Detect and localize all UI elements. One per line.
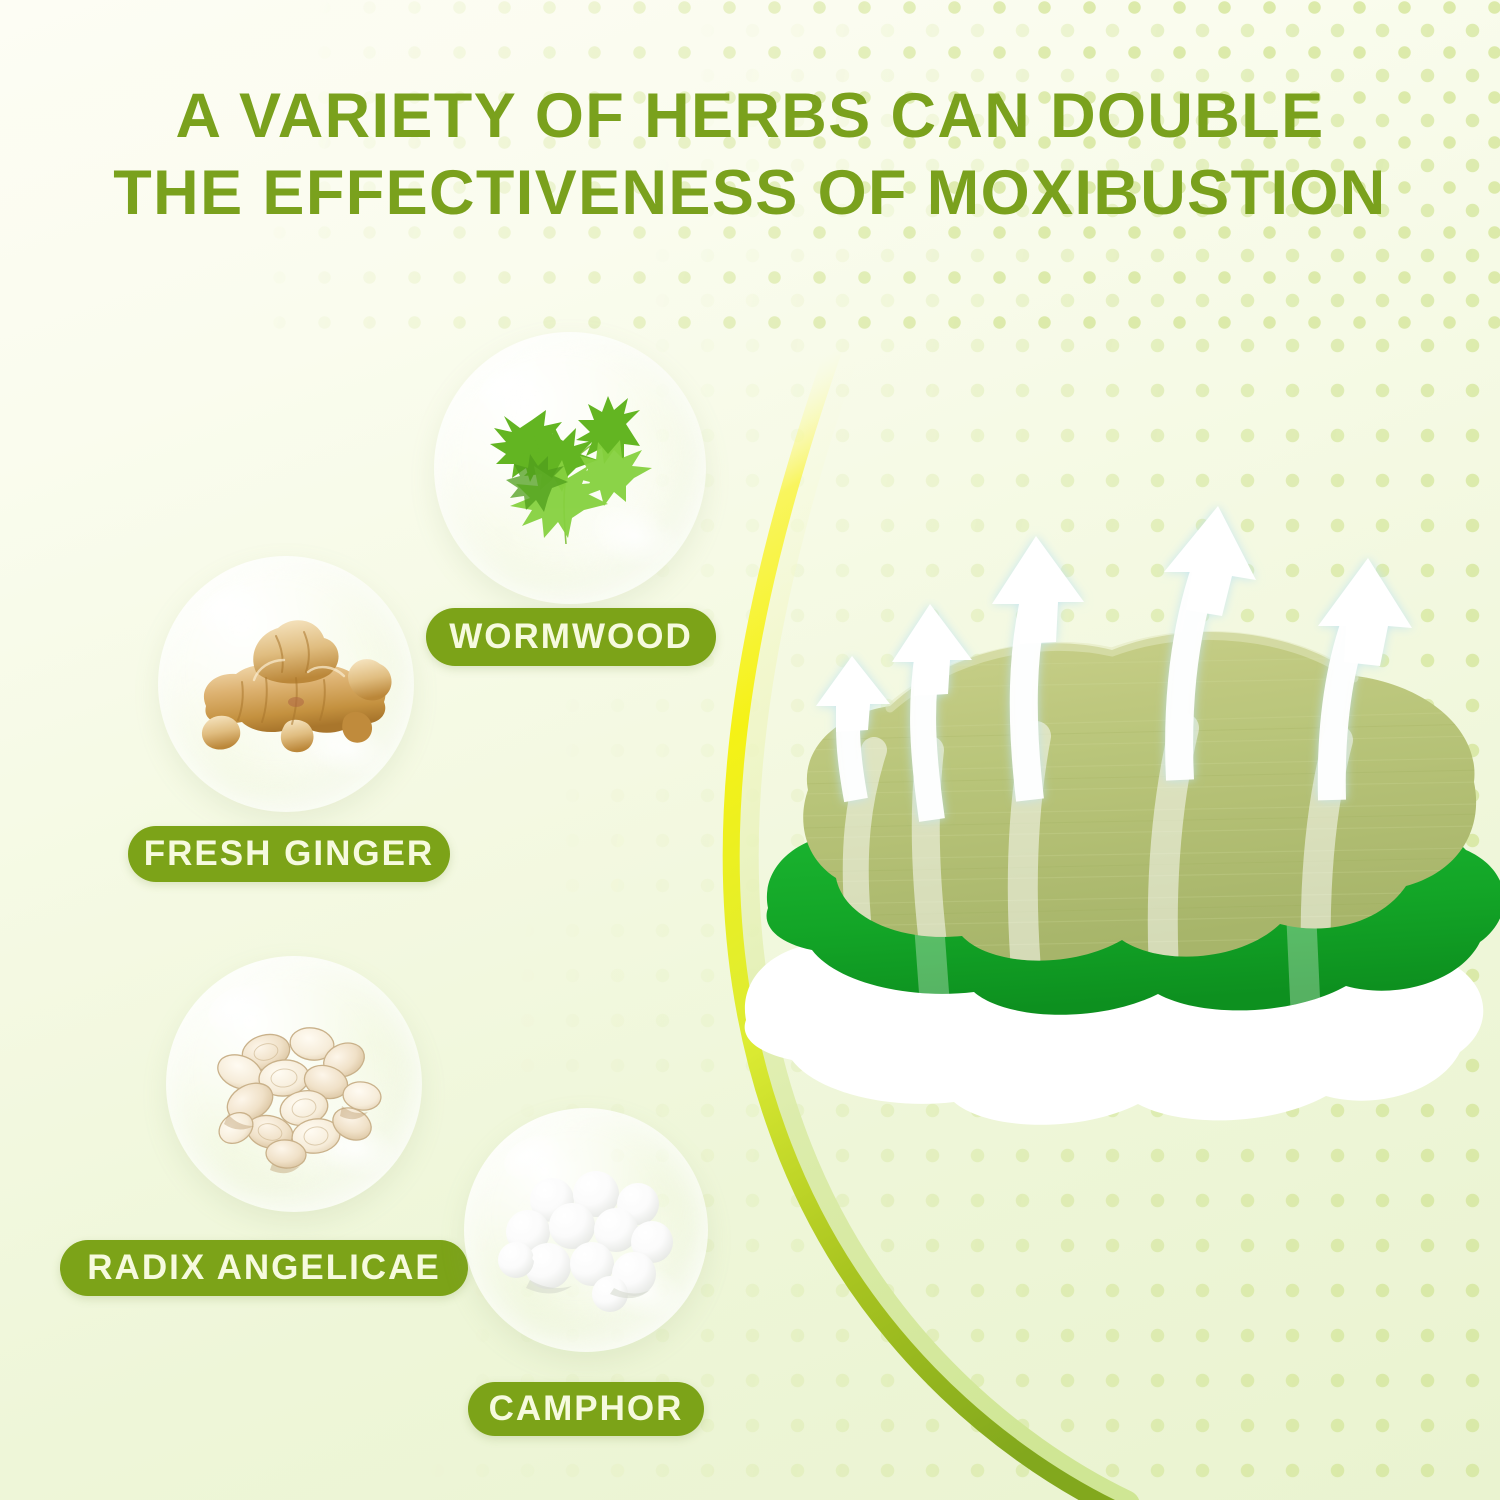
poster-canvas: A VARIETY OF HERBS CAN DOUBLE THE EFFECT…: [0, 0, 1500, 1500]
three-layer-patch-diagram: [740, 500, 1500, 1180]
ingredient-bubble-fresh-ginger[interactable]: [158, 556, 414, 812]
wormwood-sprig-icon: [434, 332, 706, 604]
ingredient-label-wormwood[interactable]: WORMWOOD: [426, 608, 716, 666]
ingredient-label-radix-angelicae[interactable]: RADIX ANGELICAE: [60, 1240, 468, 1296]
ingredient-bubble-camphor[interactable]: [464, 1108, 708, 1352]
ingredient-label-fresh-ginger[interactable]: FRESH GINGER: [128, 826, 450, 882]
ginger-root-icon: [158, 556, 414, 812]
camphor-balls-icon: [464, 1108, 708, 1352]
ingredient-bubble-radix-angelicae[interactable]: [166, 956, 422, 1212]
page-title: A VARIETY OF HERBS CAN DOUBLE THE EFFECT…: [0, 78, 1500, 232]
ingredient-bubble-wormwood[interactable]: [434, 332, 706, 604]
ingredient-label-camphor[interactable]: CAMPHOR: [468, 1382, 704, 1436]
dried-root-slices-icon: [166, 956, 422, 1212]
patch-illustration: [740, 500, 1500, 1180]
